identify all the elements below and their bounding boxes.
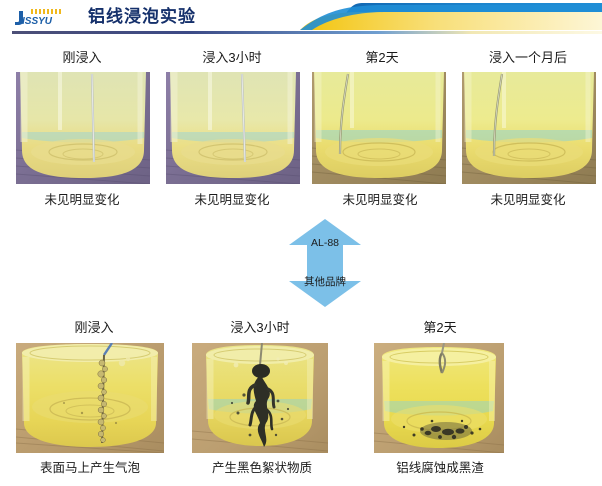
photo-top-2 — [166, 72, 300, 184]
jissyu-logo: ISSYU — [14, 8, 82, 28]
comparison-double-arrow: AL-88 其他品牌 — [282, 219, 368, 307]
bottom-row-caption-1: 表面马上产生气泡 — [10, 460, 170, 476]
page-title: 铝线浸泡实验 — [88, 6, 196, 28]
arrow-bottom-label: 其他品牌 — [282, 276, 368, 288]
header-divider — [12, 31, 602, 34]
photo-top-3 — [312, 72, 446, 184]
top-row-label-2: 浸入3小时 — [162, 50, 302, 66]
page-header: ISSYU 铝线浸泡实验 — [0, 0, 602, 40]
top-row-caption-4: 未见明显变化 — [458, 192, 598, 208]
bottom-row-label-2: 浸入3小时 — [180, 320, 340, 336]
photo-top-1 — [16, 72, 150, 184]
svg-text:ISSYU: ISSYU — [22, 16, 53, 27]
top-row-label-1: 刚浸入 — [12, 50, 152, 66]
bottom-row-label-1: 刚浸入 — [14, 320, 174, 336]
photo-top-4 — [462, 72, 596, 184]
bottom-row-label-3: 第2天 — [360, 320, 520, 336]
top-row-caption-2: 未见明显变化 — [162, 192, 302, 208]
arrow-top-label: AL-88 — [282, 237, 368, 249]
top-row-label-4: 浸入一个月后 — [458, 50, 598, 66]
bottom-row-caption-2: 产生黑色絮状物质 — [182, 460, 342, 476]
top-row-caption-1: 未见明显变化 — [12, 192, 152, 208]
bottom-row-caption-3: 铝线腐蚀成黑渣 — [360, 460, 520, 476]
top-row-label-3: 第2天 — [312, 50, 452, 66]
top-row-caption-3: 未见明显变化 — [310, 192, 450, 208]
photo-bottom-3 — [374, 343, 504, 453]
photo-bottom-1 — [16, 343, 164, 453]
photo-bottom-2 — [192, 343, 328, 453]
